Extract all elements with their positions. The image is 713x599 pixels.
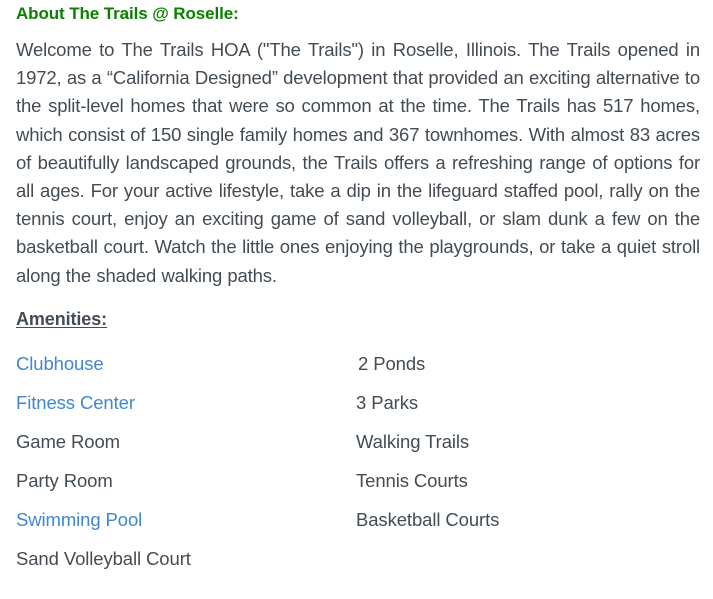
amenities-list: Clubhouse 2 Ponds Fitness Center 3 Parks… xyxy=(16,331,700,578)
amenities-heading: Amenities: xyxy=(16,290,700,331)
list-item: Game Room Walking Trails xyxy=(16,422,700,461)
page-title: About The Trails @ Roselle: xyxy=(16,0,700,25)
list-item: Sand Volleyball Court xyxy=(16,539,700,578)
list-item: Party Room Tennis Courts xyxy=(16,461,700,500)
list-item: Fitness Center 3 Parks xyxy=(16,383,700,422)
amenity-label-parks: 3 Parks xyxy=(356,383,700,422)
amenity-link-clubhouse[interactable]: Clubhouse xyxy=(16,344,356,383)
amenity-label-ponds: 2 Ponds xyxy=(356,344,700,383)
list-item: Clubhouse 2 Ponds xyxy=(16,344,700,383)
about-the-trails-page: About The Trails @ Roselle: Welcome to T… xyxy=(0,0,713,599)
amenity-label-game-room: Game Room xyxy=(16,422,356,461)
about-description-paragraph: Welcome to The Trails HOA ("The Trails")… xyxy=(16,25,700,290)
amenity-link-fitness-center[interactable]: Fitness Center xyxy=(16,383,356,422)
amenity-label-tennis-courts: Tennis Courts xyxy=(356,461,700,500)
amenity-label-sand-volleyball-court: Sand Volleyball Court xyxy=(16,539,356,578)
amenity-link-swimming-pool[interactable]: Swimming Pool xyxy=(16,500,356,539)
list-item: Swimming Pool Basketball Courts xyxy=(16,500,700,539)
amenity-label-basketball-courts: Basketball Courts xyxy=(356,500,700,539)
amenities-heading-label: Amenities: xyxy=(16,309,107,329)
amenity-label-walking-trails: Walking Trails xyxy=(356,422,700,461)
amenity-label-party-room: Party Room xyxy=(16,461,356,500)
